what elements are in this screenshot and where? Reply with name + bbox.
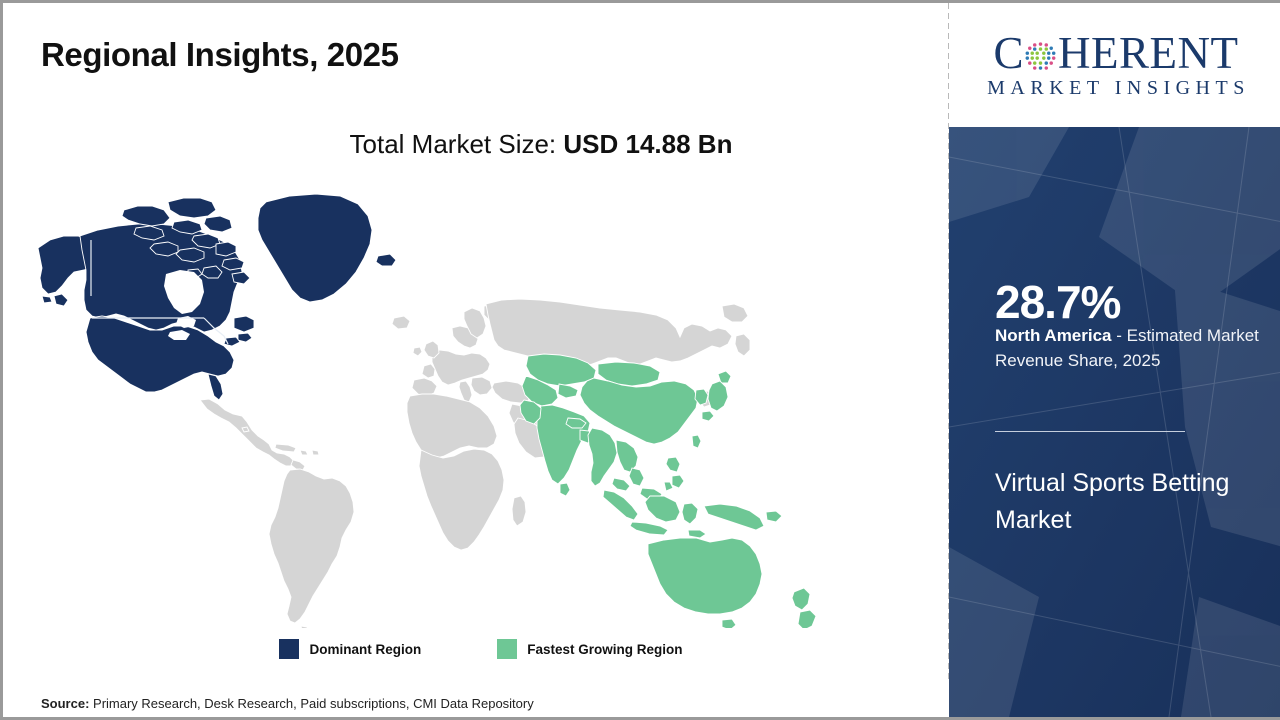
map-region-north-america xyxy=(38,194,396,400)
source-text: Primary Research, Desk Research, Paid su… xyxy=(89,696,533,711)
logo-letters-herent: HERENT xyxy=(1058,31,1238,76)
legend-swatch-dominant xyxy=(279,639,299,659)
legend-label-fastest-growing: Fastest Growing Region xyxy=(527,642,682,657)
total-market-size: Total Market Size: USD 14.88 Bn xyxy=(3,129,949,160)
stat-description: North America - Estimated Market Revenue… xyxy=(995,324,1263,373)
source-note: Source: Primary Research, Desk Research,… xyxy=(41,696,534,711)
logo-letter-c: C xyxy=(994,31,1025,76)
brand-logo: C xyxy=(949,3,1280,127)
stat-divider-rule xyxy=(995,431,1185,432)
world-map-container xyxy=(28,178,928,628)
total-market-size-label: Total Market Size: xyxy=(350,129,564,159)
total-market-size-value: USD 14.88 Bn xyxy=(563,129,732,159)
world-map-svg xyxy=(28,178,928,628)
legend-item-dominant: Dominant Region xyxy=(279,639,421,659)
regional-insights-infographic: Regional Insights, 2025 Total Market Siz… xyxy=(0,0,1280,720)
stat-card-content: 28.7% North America - Estimated Market R… xyxy=(949,127,1280,717)
map-legend: Dominant Region Fastest Growing Region xyxy=(3,639,949,659)
left-panel: Regional Insights, 2025 Total Market Siz… xyxy=(3,3,949,717)
right-panel: C xyxy=(949,3,1280,717)
map-region-asia-pacific xyxy=(520,354,816,628)
legend-swatch-fastest xyxy=(497,639,517,659)
source-label: Source: xyxy=(41,696,89,711)
legend-label-dominant: Dominant Region xyxy=(309,642,421,657)
stat-region-name: North America xyxy=(995,326,1112,345)
logo-subtitle: MARKET INSIGHTS xyxy=(982,77,1250,100)
stat-percent-value: 28.7% xyxy=(995,279,1120,325)
dotted-globe-icon xyxy=(1024,40,1057,73)
logo-wordmark: C xyxy=(994,30,1239,76)
page-title: Regional Insights, 2025 xyxy=(41,36,399,74)
market-name: Virtual Sports Betting Market xyxy=(995,465,1267,539)
legend-item-fastest-growing: Fastest Growing Region xyxy=(497,639,682,659)
stat-card: 28.7% North America - Estimated Market R… xyxy=(949,127,1280,717)
